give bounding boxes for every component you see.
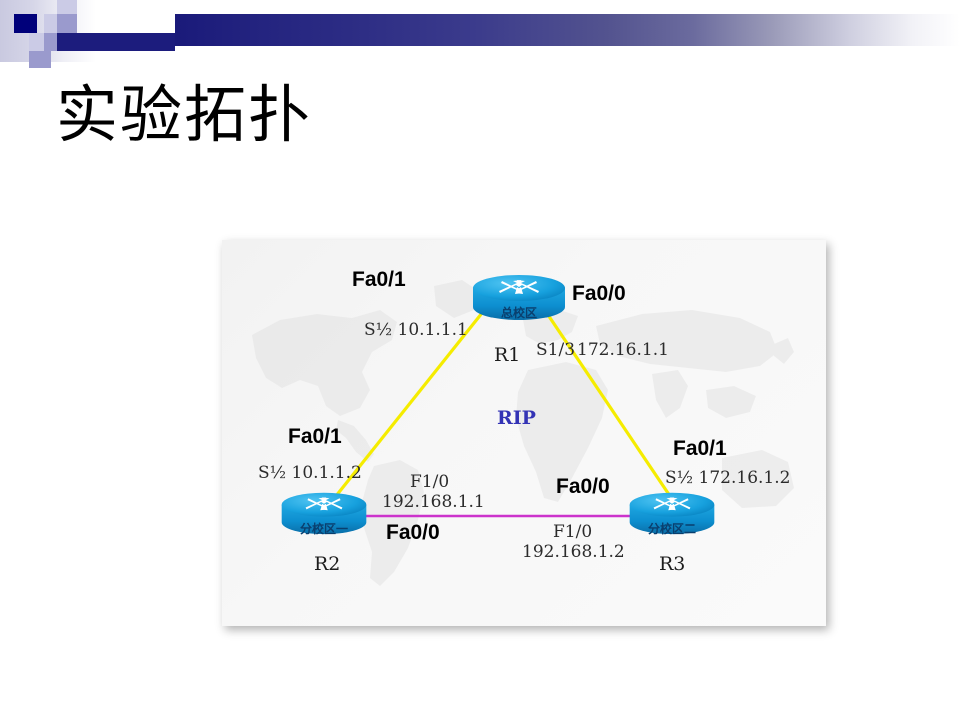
router-r2[interactable]: 分校区一	[278, 489, 370, 537]
link-r1-r3	[540, 303, 674, 502]
label-protocol-rip: RIP	[497, 407, 536, 429]
label-r3-s12-address: S½ 172.16.1.2	[665, 468, 790, 488]
header-square-periwinkle-bottom	[29, 51, 51, 68]
label-r3-fa00: Fa0/0	[556, 475, 610, 499]
header-square-navy	[14, 14, 37, 33]
router-r3[interactable]: 分校区二	[626, 489, 718, 537]
label-r2-name: R2	[314, 553, 340, 575]
label-r2-fa01: Fa0/1	[288, 425, 342, 449]
label-r1-fa00: Fa0/0	[572, 282, 626, 306]
label-r1-name: R1	[494, 344, 520, 366]
header-gradient-bar	[175, 14, 960, 46]
label-r2-f10-address: 192.168.1.1	[382, 492, 485, 512]
header-square-periwinkle-mid	[57, 14, 77, 33]
header-square-navy-wide	[57, 33, 175, 51]
topology-diagram-panel: 总校区 分校区一 分校区二	[222, 240, 826, 626]
label-r1-fa01: Fa0/1	[352, 268, 406, 292]
header-square-lavender-top	[57, 0, 77, 14]
label-r3-fa01: Fa0/1	[673, 437, 727, 461]
header-decoration	[0, 0, 960, 62]
label-r2-f10: F1/0	[410, 472, 449, 492]
label-r1-s12-address: S½ 10.1.1.1	[364, 320, 468, 340]
label-r1-s13: S1/3	[536, 340, 575, 360]
router-r1[interactable]: 总校区	[469, 271, 569, 323]
label-r2-s12-address: S½ 10.1.1.2	[258, 463, 362, 483]
label-r1-s13-address: 172.16.1.1	[577, 340, 669, 360]
label-r3-name: R3	[659, 553, 685, 575]
label-r3-f10: F1/0	[553, 522, 592, 542]
label-r3-f10-address: 192.168.1.2	[522, 542, 625, 562]
page-title: 实验拓扑	[56, 84, 312, 146]
label-r2-fa00: Fa0/0	[386, 521, 440, 545]
